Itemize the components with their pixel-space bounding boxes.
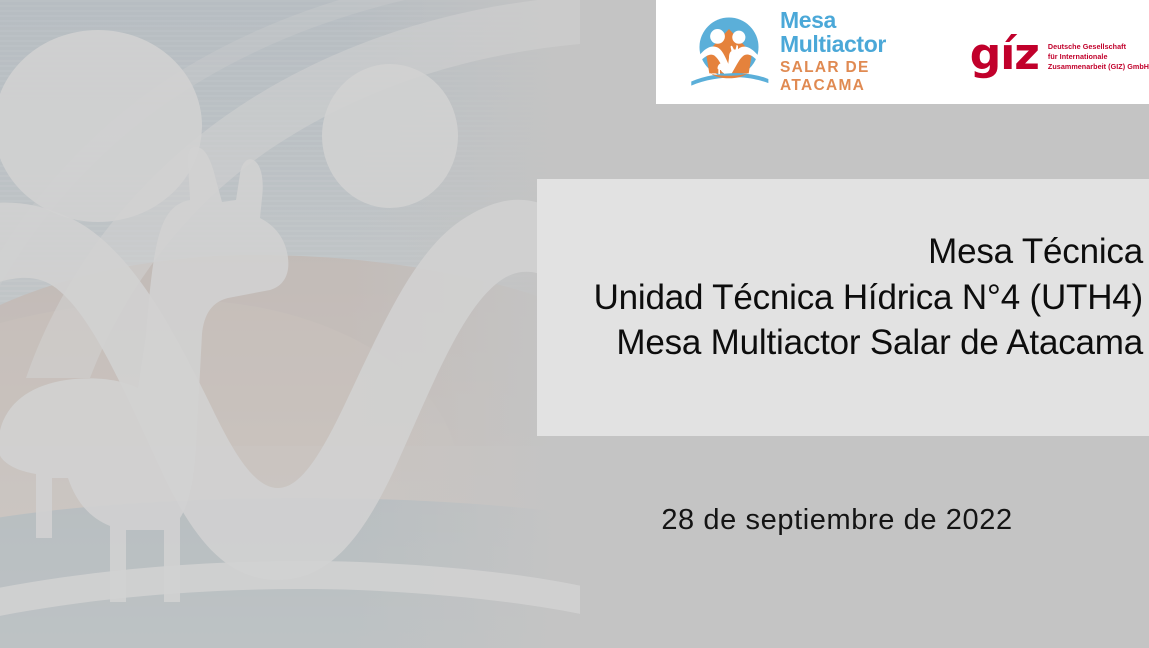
title-line-3: Mesa Multiactor Salar de Atacama xyxy=(594,320,1143,366)
giz-descriptor-line-3: Zusammenarbeit (GIZ) GmbH xyxy=(1048,62,1149,72)
mesa-multiactor-wordmark: Mesa Multiactor SALAR DE ATACAMA xyxy=(780,8,944,95)
mesa-multiactor-watermark xyxy=(0,0,580,648)
giz-descriptor-line-1: Deutsche Gesellschaft xyxy=(1048,42,1149,52)
logo-band: Mesa Multiactor SALAR DE ATACAMA gíz Deu… xyxy=(656,0,1149,104)
giz-descriptor-line-2: für Internationale xyxy=(1048,52,1149,62)
mesa-multiactor-subtitle: SALAR DE ATACAMA xyxy=(780,59,944,96)
mesa-multiactor-title: Mesa Multiactor xyxy=(780,8,944,56)
title-text-box: Mesa Técnica Unidad Técnica Hídrica N°4 … xyxy=(537,179,1149,436)
mesa-multiactor-logo: Mesa Multiactor SALAR DE ATACAMA xyxy=(688,8,944,95)
presentation-date: 28 de septiembre de 2022 xyxy=(537,504,1137,537)
title-line-1: Mesa Técnica xyxy=(594,229,1143,275)
giz-descriptor: Deutsche Gesellschaft für Internationale… xyxy=(1048,42,1149,73)
page-title: Mesa Técnica Unidad Técnica Hídrica N°4 … xyxy=(594,229,1143,366)
mesa-multiactor-circle-logo xyxy=(688,11,770,93)
title-line-2: Unidad Técnica Hídrica N°4 (UTH4) xyxy=(594,275,1143,321)
title-slide: Mesa Técnica Unidad Técnica Hídrica N°4 … xyxy=(0,0,1149,648)
giz-logo: gíz Deutsche Gesellschaft für Internatio… xyxy=(970,31,1149,73)
giz-wordmark: gíz xyxy=(970,37,1039,73)
